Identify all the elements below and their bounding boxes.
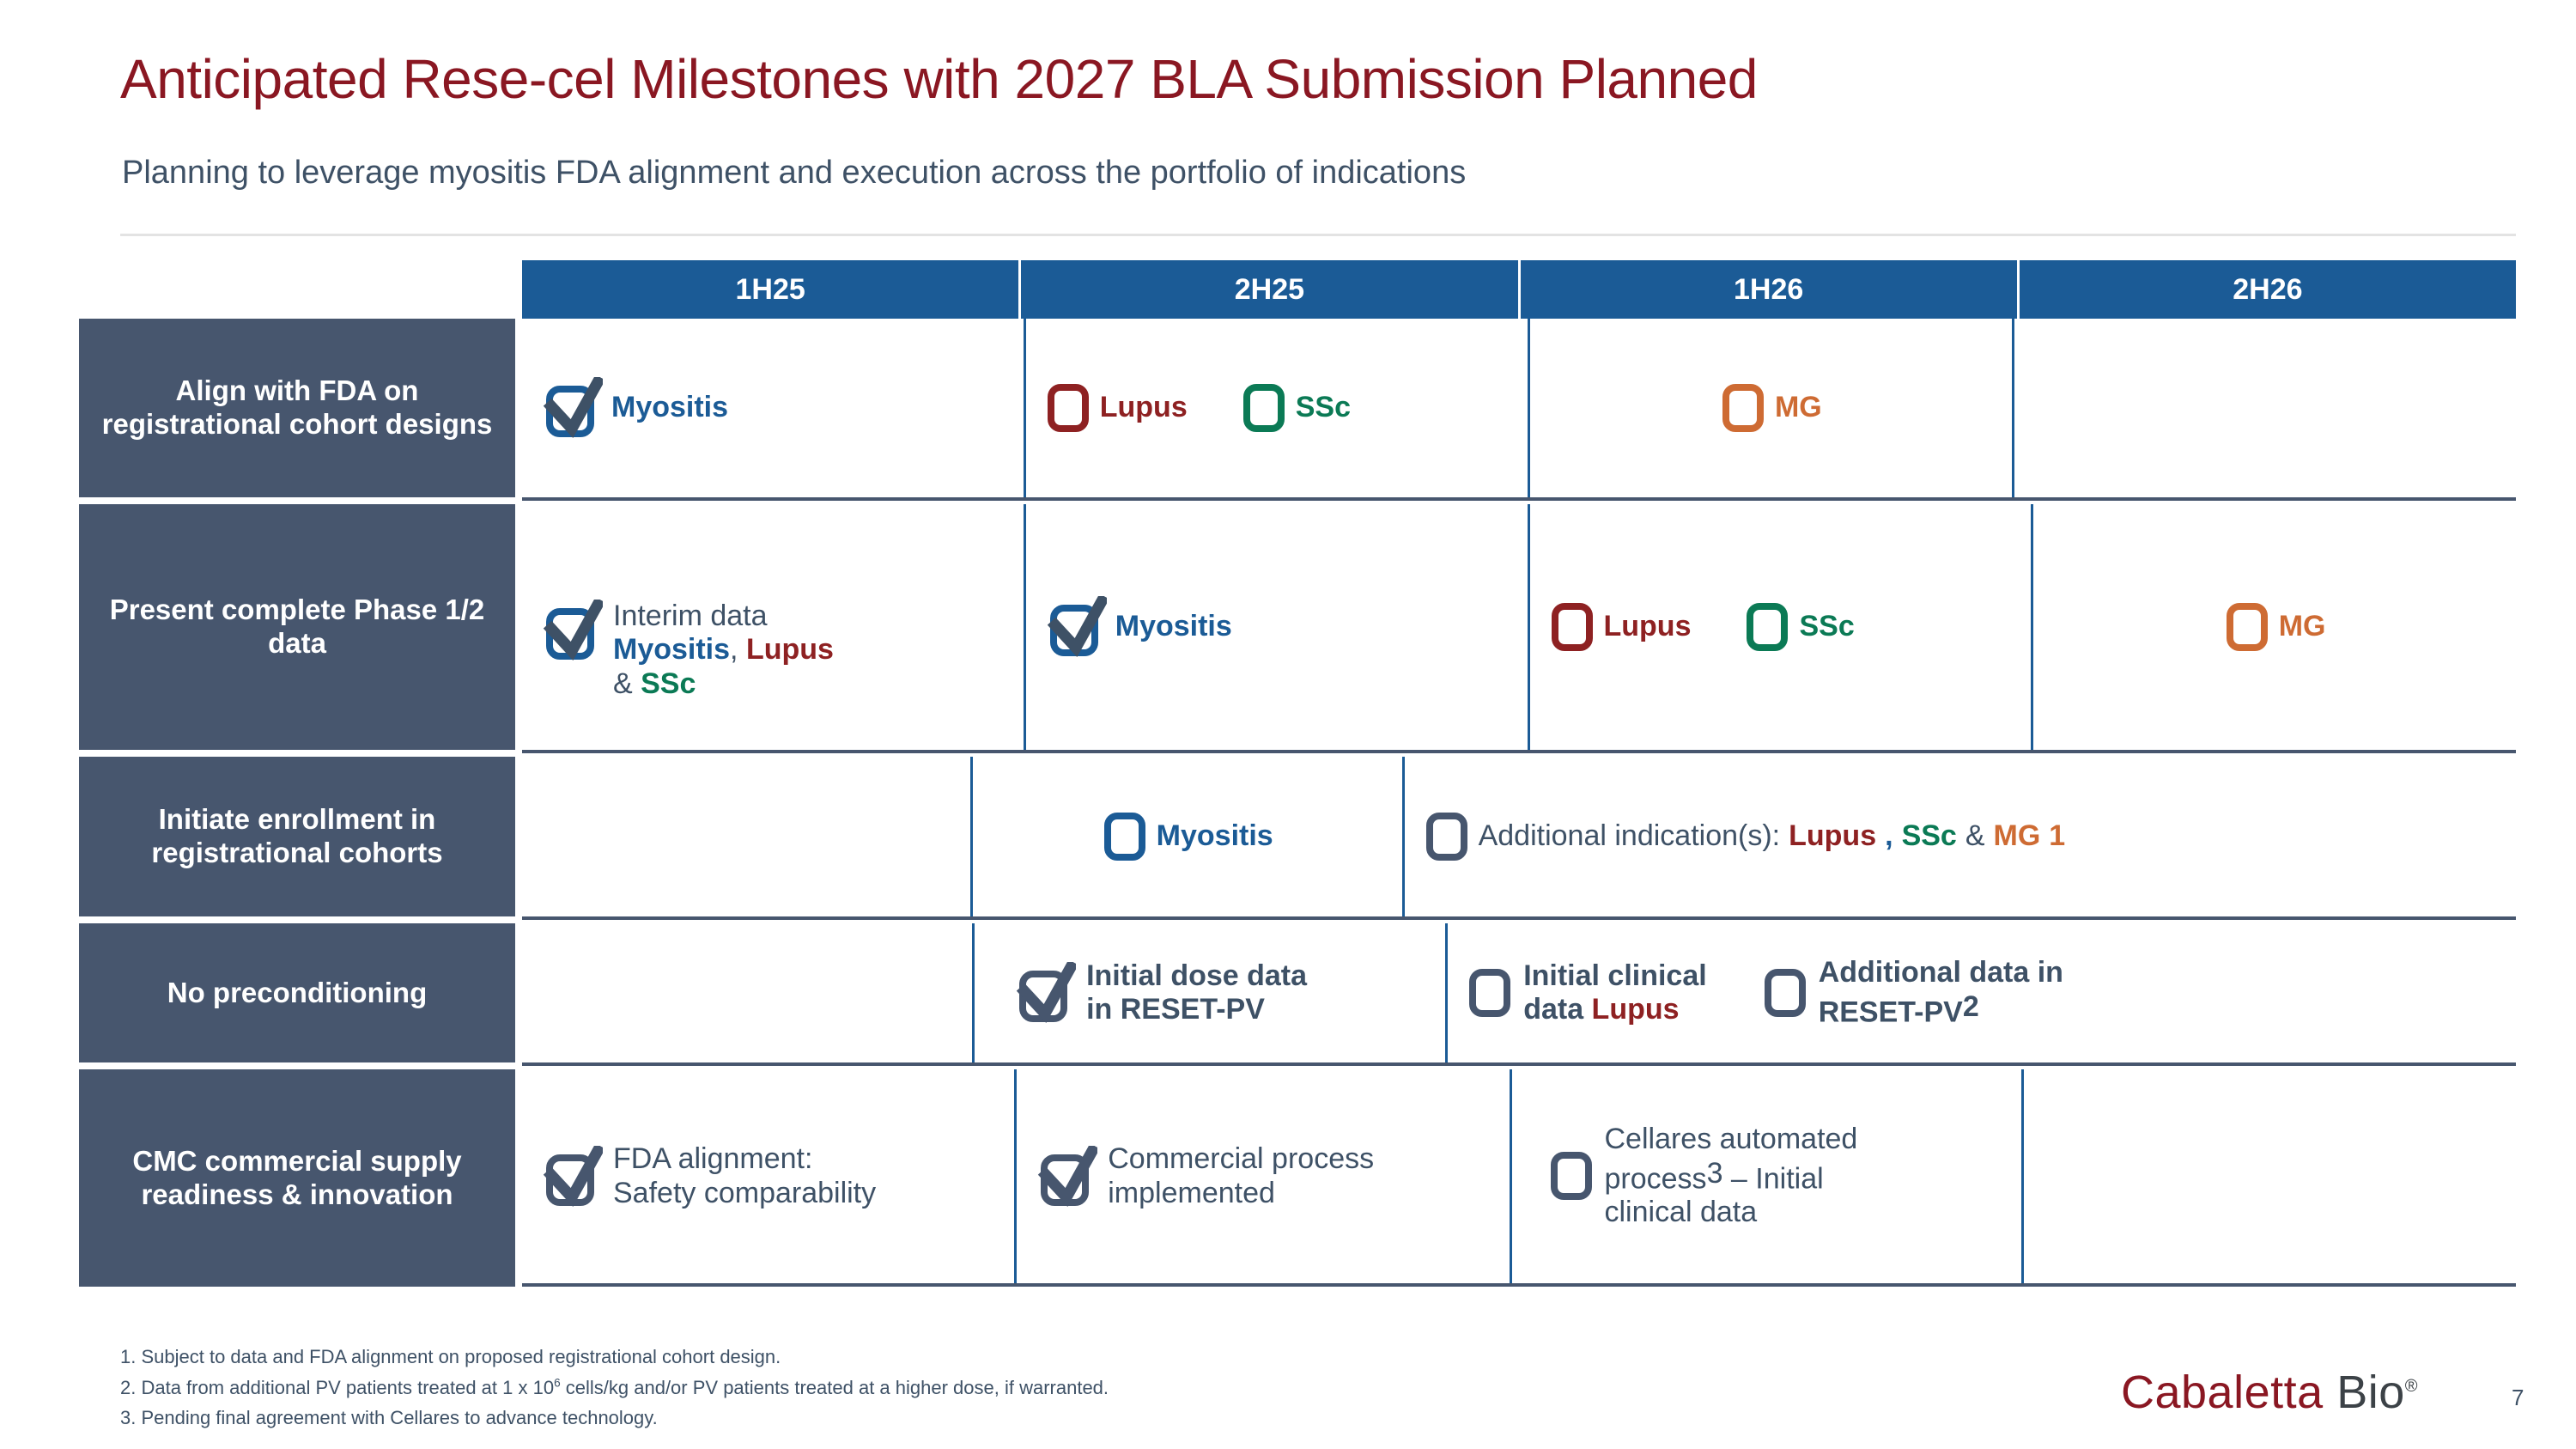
checked-box-icon [1036, 1146, 1097, 1208]
footnote-ref: 3 [1707, 1157, 1723, 1190]
cell-precon-2h26 [2066, 923, 2516, 1062]
milestone-text-line2: implemented [1108, 1177, 1374, 1210]
milestone-item: Myositis [541, 377, 728, 439]
empty-box-icon [2224, 600, 2270, 654]
indication-label-ssc: SSc [1902, 819, 1957, 853]
table-row: Align with FDA on registrational cohort … [79, 319, 2516, 501]
checked-box-icon [1014, 962, 1076, 1024]
milestone-item: Myositis [1102, 810, 1273, 863]
page-title: Anticipated Rese-cel Milestones with 202… [120, 47, 1758, 111]
indication-label-ssc: SSc [641, 667, 696, 700]
indication-label: SSc [1799, 610, 1854, 643]
cell-initiate-1h25 [522, 757, 973, 916]
empty-box-icon [1549, 600, 1595, 654]
cell-cmc-1h25: FDA alignment: Safety comparability [522, 1069, 1017, 1283]
milestone-item: SSc [1241, 381, 1351, 435]
footnote-ref: 2 [1963, 990, 1979, 1023]
cell-cmc-1h26: Cellares automated process3 – Initial cl… [1512, 1069, 2024, 1283]
indication-label: Lupus [1604, 610, 1692, 643]
cell-precon-1h25 [522, 923, 975, 1062]
milestone-text-line3: clinical data [1605, 1196, 1858, 1229]
cell-align-1h25: Myositis [522, 319, 1026, 497]
empty-box-icon [1720, 381, 1766, 435]
milestone-item: MG [2224, 600, 2326, 654]
milestone-item: Initial clinical data Lupus [1467, 959, 1707, 1027]
milestone-text-line1: Additional data in [1819, 956, 2063, 989]
milestone-item: Interim data Myositis, Lupus & SSc [541, 553, 834, 701]
checked-box-icon [541, 1146, 603, 1208]
milestone-text-line2: Safety comparability [613, 1177, 876, 1210]
page-subtitle: Planning to leverage myositis FDA alignm… [122, 155, 1466, 192]
milestone-text-line1: FDA alignment: [613, 1142, 876, 1176]
empty-box-icon [1467, 966, 1513, 1020]
logo-cabaletta: Cabaletta [2121, 1367, 2324, 1418]
cell-cmc-2h26 [2024, 1069, 2516, 1283]
footnotes: 1. Subject to data and FDA alignment on … [120, 1342, 1109, 1434]
empty-box-icon [1102, 810, 1148, 863]
cell-precon-1h26: Initial clinical data Lupus Additional d… [1448, 923, 2066, 1062]
indication-label-mg: MG [1994, 819, 2041, 853]
footnote-2-part2: cells/kg and/or PV patients treated at a… [561, 1377, 1109, 1398]
footnote-2-part1: 2. Data from additional PV patients trea… [120, 1377, 554, 1398]
indication-label-lupus: Lupus [1789, 819, 1876, 853]
milestone-item: Additional data in RESET-PV2 [1762, 956, 2063, 1029]
cell-present-2h26: MG [2033, 504, 2516, 750]
milestone-item: FDA alignment: Safety comparability [541, 1142, 876, 1210]
empty-box-icon [1744, 600, 1790, 654]
milestone-item: Additional indication(s): Lupus, SSc & M… [1424, 810, 2066, 863]
row-label-cmc: CMC commercial supply readiness & innova… [79, 1069, 515, 1287]
column-header-2h26: 2H26 [2020, 260, 2516, 319]
cell-initiate-2h26 [2068, 757, 2516, 916]
checked-box-icon [1045, 596, 1107, 658]
cell-align-2h26 [2014, 319, 2516, 497]
cell-align-1h26: MG [1530, 319, 2015, 497]
indication-label: Lupus [1100, 391, 1188, 424]
milestone-text-line2: RESET-PV [1819, 995, 1963, 1028]
cell-present-1h26: Lupus SSc [1530, 504, 2034, 750]
cell-present-2h25: Myositis [1026, 504, 1530, 750]
milestone-text-line1: Commercial process [1108, 1142, 1374, 1176]
row-label-align-fda: Align with FDA on registrational cohort … [79, 319, 515, 501]
cell-present-1h25: Interim data Myositis, Lupus & SSc [522, 504, 1026, 750]
milestone-item: SSc [1744, 600, 1854, 654]
milestone-item: MG [1720, 381, 1822, 435]
cell-initiate-1h26: Additional indication(s): Lupus, SSc & M… [1405, 757, 2069, 916]
footnote-ref: 1 [2049, 819, 2065, 853]
indication-label-lupus: Lupus [746, 633, 834, 666]
milestone-item: Initial dose data in RESET-PV [1014, 959, 1307, 1027]
empty-box-icon [1762, 966, 1808, 1020]
row-label-present-data: Present complete Phase 1/2 data [79, 504, 515, 753]
indication-label: Myositis [611, 391, 728, 424]
header-divider [120, 234, 2516, 236]
checked-box-icon [541, 377, 603, 439]
column-header-2h25: 2H25 [1021, 260, 1520, 319]
separator: & [613, 667, 641, 700]
table-row: Initiate enrollment in registrational co… [79, 757, 2516, 920]
milestone-item: Cellares automated process3 – Initial cl… [1548, 1123, 1858, 1230]
cell-align-2h25: Lupus SSc [1026, 319, 1530, 497]
registered-trademark-icon: ® [2405, 1377, 2418, 1396]
footnote-1: 1. Subject to data and FDA alignment on … [120, 1342, 1109, 1373]
separator: & [1965, 819, 1985, 853]
milestone-item: Myositis [1045, 596, 1232, 658]
milestone-text-line2: data [1523, 993, 1591, 1026]
indication-label-lupus: Lupus [1592, 993, 1680, 1026]
milestones-table: 1H25 2H25 1H26 2H26 Align with FDA on re… [79, 260, 2516, 1325]
milestone-item: Commercial process implemented [1036, 1142, 1374, 1210]
milestone-item: Lupus [1045, 381, 1188, 435]
checked-box-icon [541, 600, 603, 661]
table-row: Present complete Phase 1/2 data Interim … [79, 504, 2516, 753]
milestone-text-line1: Interim data [613, 600, 834, 633]
footnote-3: 3. Pending final agreement with Cellares… [120, 1403, 1109, 1434]
table-row: No preconditioning Initial dose data in … [79, 923, 2516, 1066]
empty-box-icon [1241, 381, 1287, 435]
separator: , [730, 633, 746, 666]
indication-label: SSc [1296, 391, 1351, 424]
logo-bio: Bio [2336, 1367, 2405, 1418]
separator: , [1885, 819, 1893, 853]
milestone-text-line1: Cellares automated [1605, 1123, 1858, 1156]
milestone-text-line1: Initial clinical [1523, 959, 1707, 993]
milestone-text: Additional indication(s): [1479, 819, 1781, 853]
empty-box-icon [1045, 381, 1091, 435]
row-label-initiate-enrollment: Initiate enrollment in registrational co… [79, 757, 515, 920]
column-header-1h26: 1H26 [1521, 260, 2020, 319]
footnote-2-exponent: 6 [554, 1376, 561, 1389]
indication-label-myositis: Myositis [613, 633, 730, 666]
table-header-row: 1H25 2H25 1H26 2H26 [522, 260, 2516, 319]
milestone-text-line2: in RESET-PV [1086, 993, 1307, 1026]
empty-box-icon [1424, 810, 1470, 863]
indication-label: MG [1775, 391, 1822, 424]
cell-cmc-2h25: Commercial process implemented [1017, 1069, 1511, 1283]
footnote-2: 2. Data from additional PV patients trea… [120, 1373, 1109, 1403]
cell-precon-2h25: Initial dose data in RESET-PV [975, 923, 1448, 1062]
company-logo: Cabaletta Bio® [2121, 1366, 2418, 1419]
page-number: 7 [2512, 1385, 2524, 1411]
indication-label: Myositis [1157, 819, 1273, 853]
row-label-no-preconditioning: No preconditioning [79, 923, 515, 1066]
milestone-text-line1: Initial dose data [1086, 959, 1307, 993]
empty-box-icon [1548, 1149, 1595, 1202]
milestone-item: Lupus [1549, 600, 1692, 654]
indication-label: Myositis [1115, 610, 1232, 643]
column-header-1h25: 1H25 [522, 260, 1021, 319]
indication-label: MG [2279, 610, 2326, 643]
milestone-text-line2: process [1605, 1162, 1707, 1195]
milestone-text-line2b: – Initial [1722, 1162, 1823, 1195]
table-row: CMC commercial supply readiness & innova… [79, 1069, 2516, 1287]
cell-initiate-2h25: Myositis [973, 757, 1405, 916]
